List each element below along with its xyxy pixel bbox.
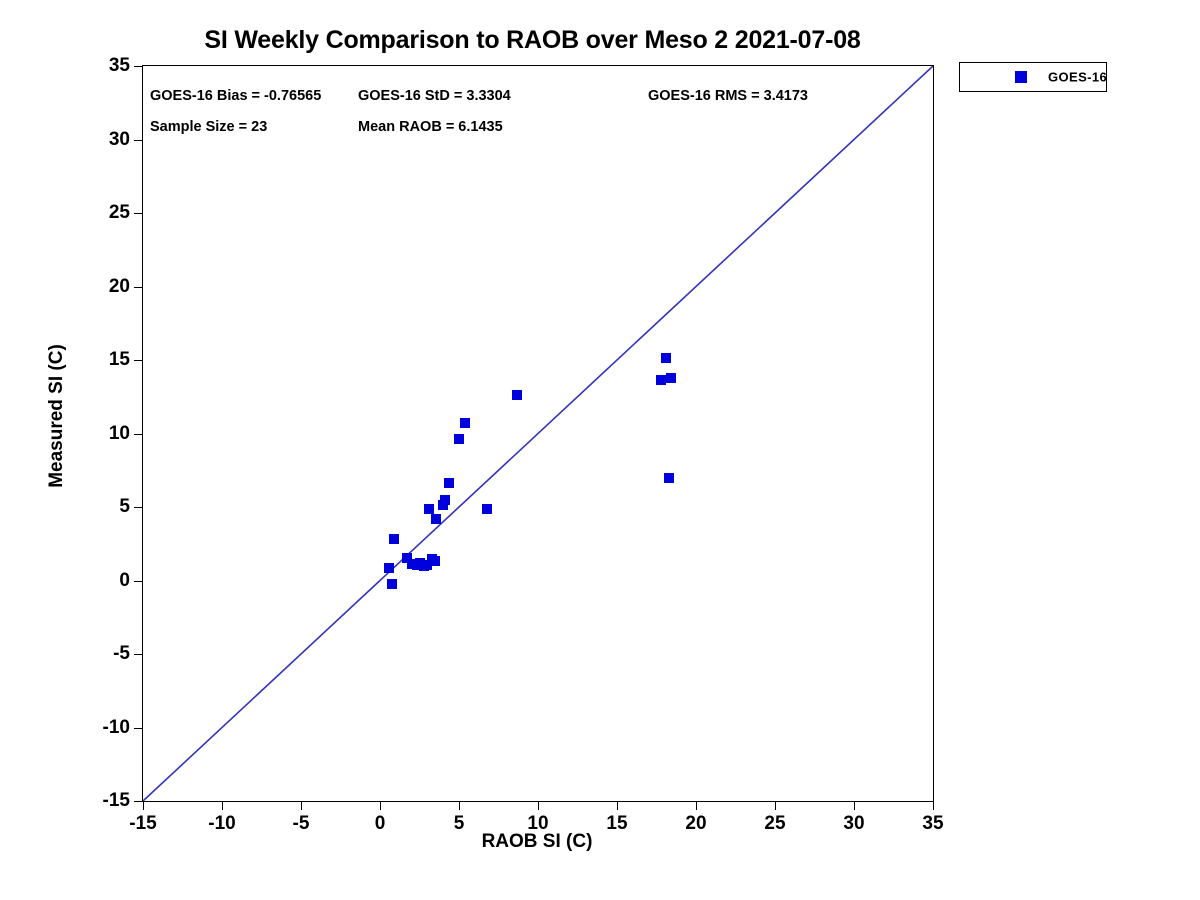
x-axis-tick [143, 801, 144, 810]
x-axis-tick [301, 801, 302, 810]
x-axis-tick [617, 801, 618, 810]
data-point-marker [664, 473, 674, 483]
y-axis-tick [134, 654, 143, 655]
x-axis-tick-label: 5 [454, 813, 465, 835]
data-point-marker [460, 418, 470, 428]
stat-bias: GOES-16 Bias = -0.76565 [150, 88, 321, 104]
data-point-marker [440, 495, 450, 505]
chart-figure: SI Weekly Comparison to RAOB over Meso 2… [0, 0, 1200, 900]
y-axis-tick-label: 35 [109, 55, 130, 77]
y-axis-tick-label: 30 [109, 129, 130, 151]
x-axis-tick [459, 801, 460, 810]
data-point-marker [482, 504, 492, 514]
reference-line-segment [143, 66, 933, 801]
y-axis-tick [134, 66, 143, 67]
x-axis-tick-label: 30 [843, 813, 864, 835]
x-axis-tick [380, 801, 381, 810]
x-axis-tick-label: -5 [293, 813, 310, 835]
y-axis-tick [134, 140, 143, 141]
x-axis-tick [775, 801, 776, 810]
x-axis-tick-label: 15 [606, 813, 627, 835]
chart-title: SI Weekly Comparison to RAOB over Meso 2… [0, 26, 1065, 55]
y-axis-tick-label: 20 [109, 276, 130, 298]
y-axis-tick [134, 801, 143, 802]
x-axis-tick-label: 35 [922, 813, 943, 835]
y-axis-tick-label: 0 [119, 570, 130, 592]
data-point-marker [384, 563, 394, 573]
data-point-marker [430, 556, 440, 566]
data-point-marker [661, 353, 671, 363]
data-point-marker [431, 514, 441, 524]
legend-box: GOES-16 [959, 62, 1107, 92]
y-axis-tick-label: 15 [109, 349, 130, 371]
x-axis-tick-label: 0 [375, 813, 386, 835]
legend-marker-swatch [1015, 71, 1027, 83]
y-axis-tick [134, 507, 143, 508]
stat-rms: GOES-16 RMS = 3.4173 [648, 88, 808, 104]
x-axis-tick-label: 20 [685, 813, 706, 835]
x-axis-tick [933, 801, 934, 810]
y-axis-tick [134, 360, 143, 361]
x-axis-tick [696, 801, 697, 810]
one-to-one-reference-line [143, 66, 933, 801]
y-axis-tick-label: 5 [119, 496, 130, 518]
data-point-marker [454, 434, 464, 444]
y-axis-tick-label: -5 [113, 643, 130, 665]
y-axis-title-text: Measured SI (C) [46, 344, 68, 488]
data-point-marker [424, 504, 434, 514]
y-axis-tick-label: 25 [109, 202, 130, 224]
y-axis-tick [134, 287, 143, 288]
x-axis-tick-label: 10 [527, 813, 548, 835]
x-axis-tick-label: -10 [208, 813, 235, 835]
x-axis-tick-label: -15 [129, 813, 156, 835]
y-axis-tick-label: 10 [109, 423, 130, 445]
stat-std: GOES-16 StD = 3.3304 [358, 88, 511, 104]
x-axis-tick-label: 25 [764, 813, 785, 835]
plot-inner: -15-10-505101520253035-15-10-50510152025… [143, 66, 933, 801]
y-axis-tick-label: -15 [103, 790, 130, 812]
x-axis-tick [538, 801, 539, 810]
stat-sample-size: Sample Size = 23 [150, 119, 267, 135]
data-point-marker [666, 373, 676, 383]
stat-mean-raob: Mean RAOB = 6.1435 [358, 119, 503, 135]
plot-area: -15-10-505101520253035-15-10-50510152025… [142, 65, 934, 802]
data-point-marker [512, 390, 522, 400]
data-point-marker [444, 478, 454, 488]
y-axis-title: Measured SI (C) [40, 0, 74, 900]
y-axis-tick [134, 213, 143, 214]
y-axis-tick-label: -10 [103, 717, 130, 739]
y-axis-tick [134, 581, 143, 582]
y-axis-tick [134, 728, 143, 729]
y-axis-tick [134, 434, 143, 435]
data-point-marker [389, 534, 399, 544]
x-axis-tick [222, 801, 223, 810]
x-axis-tick [854, 801, 855, 810]
legend-series-label: GOES-16 [1048, 70, 1107, 85]
data-point-marker [387, 579, 397, 589]
